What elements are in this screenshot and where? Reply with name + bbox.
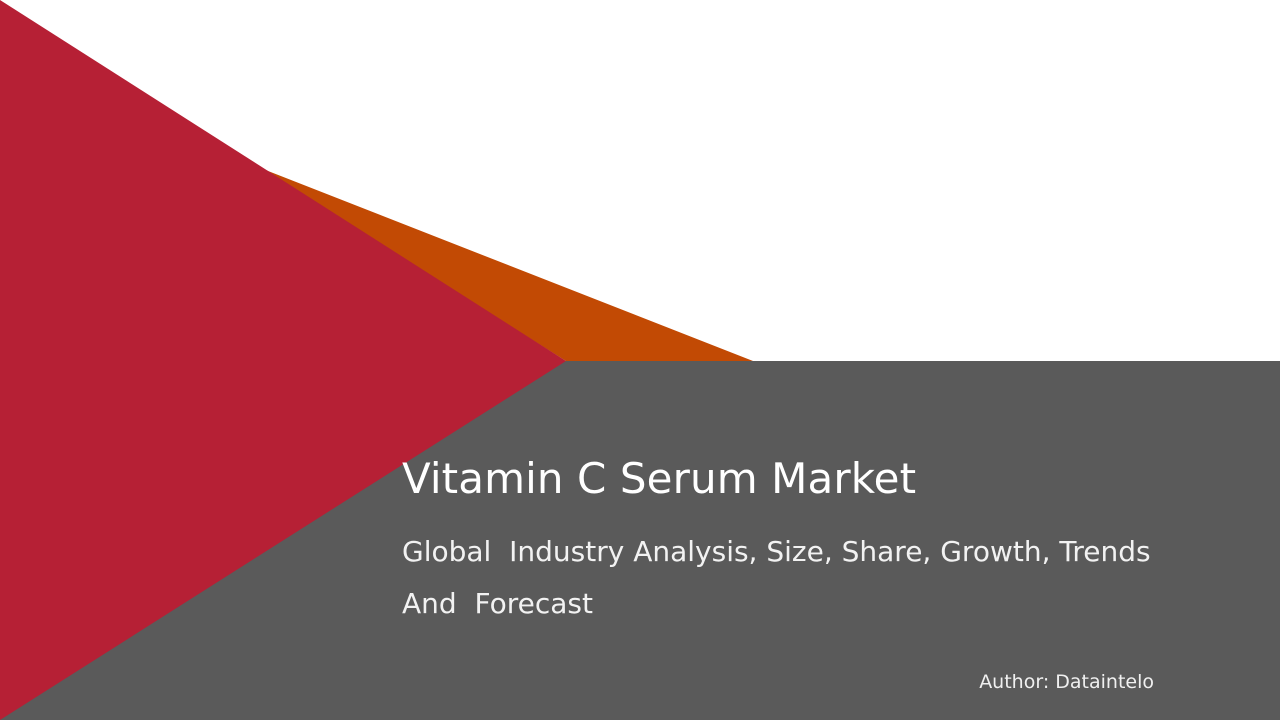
page-subtitle: Global Industry Analysis, Size, Share, G… [402, 502, 1162, 630]
page-title: Vitamin C Serum Market [402, 455, 1162, 502]
cover-text-block: Vitamin C Serum Market Global Industry A… [402, 455, 1162, 630]
report-cover: Vitamin C Serum Market Global Industry A… [0, 0, 1280, 720]
author-credit: Author: Dataintelo [979, 671, 1154, 693]
